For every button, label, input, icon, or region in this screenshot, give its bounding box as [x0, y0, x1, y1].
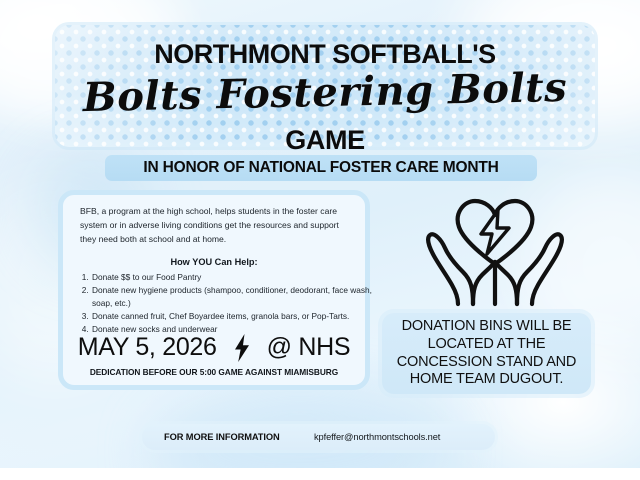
info-card: BFB, a program at the high school, helps… [58, 190, 370, 390]
list-item: Donate new hygiene products (shampoo, co… [91, 284, 391, 309]
title-banner: NORTHMONT SOFTBALL'S Bolts Fostering Bol… [55, 25, 595, 147]
event-date-row: MAY 5, 2026 @ NHS [63, 333, 365, 362]
donation-notice-box: DONATION BINS WILL BE LOCATED AT THE CON… [382, 313, 591, 394]
help-list: Donate $$ to our Food Pantry Donate new … [71, 271, 391, 336]
subtitle-text: IN HONOR OF NATIONAL FOSTER CARE MONTH [143, 159, 498, 177]
footer-label: FOR MORE INFORMATION [164, 432, 280, 442]
intro-paragraph: BFB, a program at the high school, helps… [80, 205, 356, 247]
event-venue: @ NHS [267, 333, 351, 362]
lightning-bolt-icon [233, 334, 251, 362]
list-item: Donate $$ to our Food Pantry [91, 271, 391, 284]
poster-canvas: NORTHMONT SOFTBALL'S Bolts Fostering Bol… [0, 0, 640, 468]
dedication-text: DEDICATION BEFORE OUR 5:00 GAME AGAINST … [63, 367, 365, 377]
donation-notice-text: DONATION BINS WILL BE LOCATED AT THE CON… [382, 318, 591, 389]
poster-title-script: Bolts Fostering Bolts [55, 63, 596, 121]
list-item: Donate canned fruit, Chef Boyardee items… [91, 310, 391, 323]
footer-bar: FOR MORE INFORMATION kpfeffer@northmonts… [142, 424, 495, 450]
event-date: MAY 5, 2026 [78, 333, 217, 362]
help-heading: How YOU Can Help: [63, 257, 365, 267]
hands-holding-heart-bolt-icon [425, 192, 565, 310]
subtitle-banner: IN HONOR OF NATIONAL FOSTER CARE MONTH [105, 155, 537, 181]
footer-email[interactable]: kpfeffer@northmontschools.net [314, 432, 440, 442]
poster-title-line3: GAME [55, 125, 595, 156]
